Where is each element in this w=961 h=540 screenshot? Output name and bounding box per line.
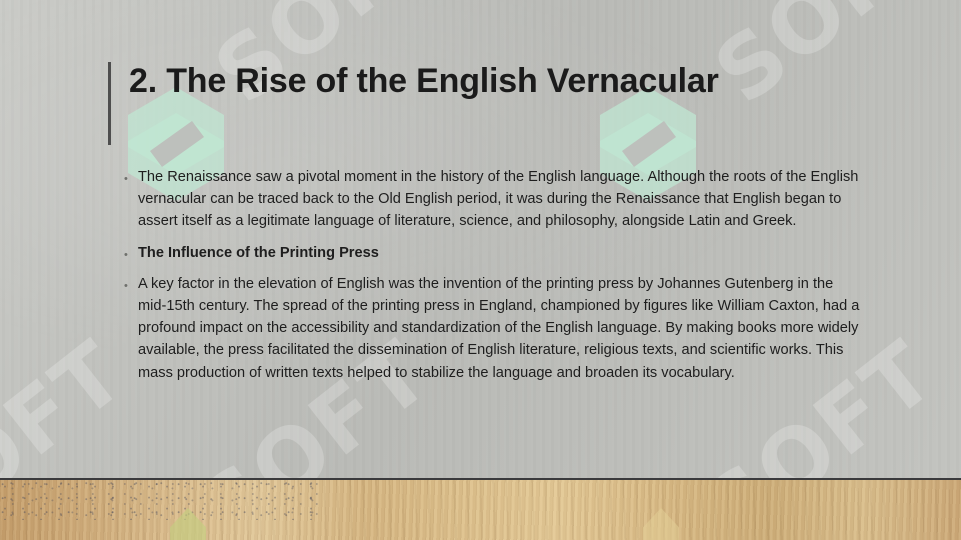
page-title: 2. The Rise of the English Vernacular — [129, 64, 719, 100]
slide-body: • The Renaissance saw a pivotal moment i… — [124, 166, 864, 384]
slide-title-row: 2. The Rise of the English Vernacular — [108, 62, 719, 145]
wood-speckle-texture — [0, 480, 320, 520]
list-item-text: A key factor in the elevation of English… — [138, 273, 864, 384]
presentation-slide: SOFT SOFT SOFT SOFT SOFT 2. The Rise of … — [0, 0, 961, 540]
wood-grain-texture — [0, 480, 961, 540]
watermark-text: SOFT — [697, 0, 961, 124]
leaf-shape-icon — [643, 508, 679, 540]
slide-footer-band — [0, 478, 961, 540]
list-item-text: The Influence of the Printing Press — [138, 242, 864, 264]
list-item-text: The Renaissance saw a pivotal moment in … — [138, 166, 864, 233]
list-item: • The Renaissance saw a pivotal moment i… — [124, 166, 864, 233]
title-accent-bar — [108, 62, 111, 145]
bullet-icon: • — [124, 242, 138, 261]
bullet-icon: • — [124, 273, 138, 292]
leaf-shape-icon — [170, 508, 206, 540]
list-item: • The Influence of the Printing Press — [124, 242, 864, 264]
bullet-icon: • — [124, 166, 138, 185]
list-item: • A key factor in the elevation of Engli… — [124, 273, 864, 384]
